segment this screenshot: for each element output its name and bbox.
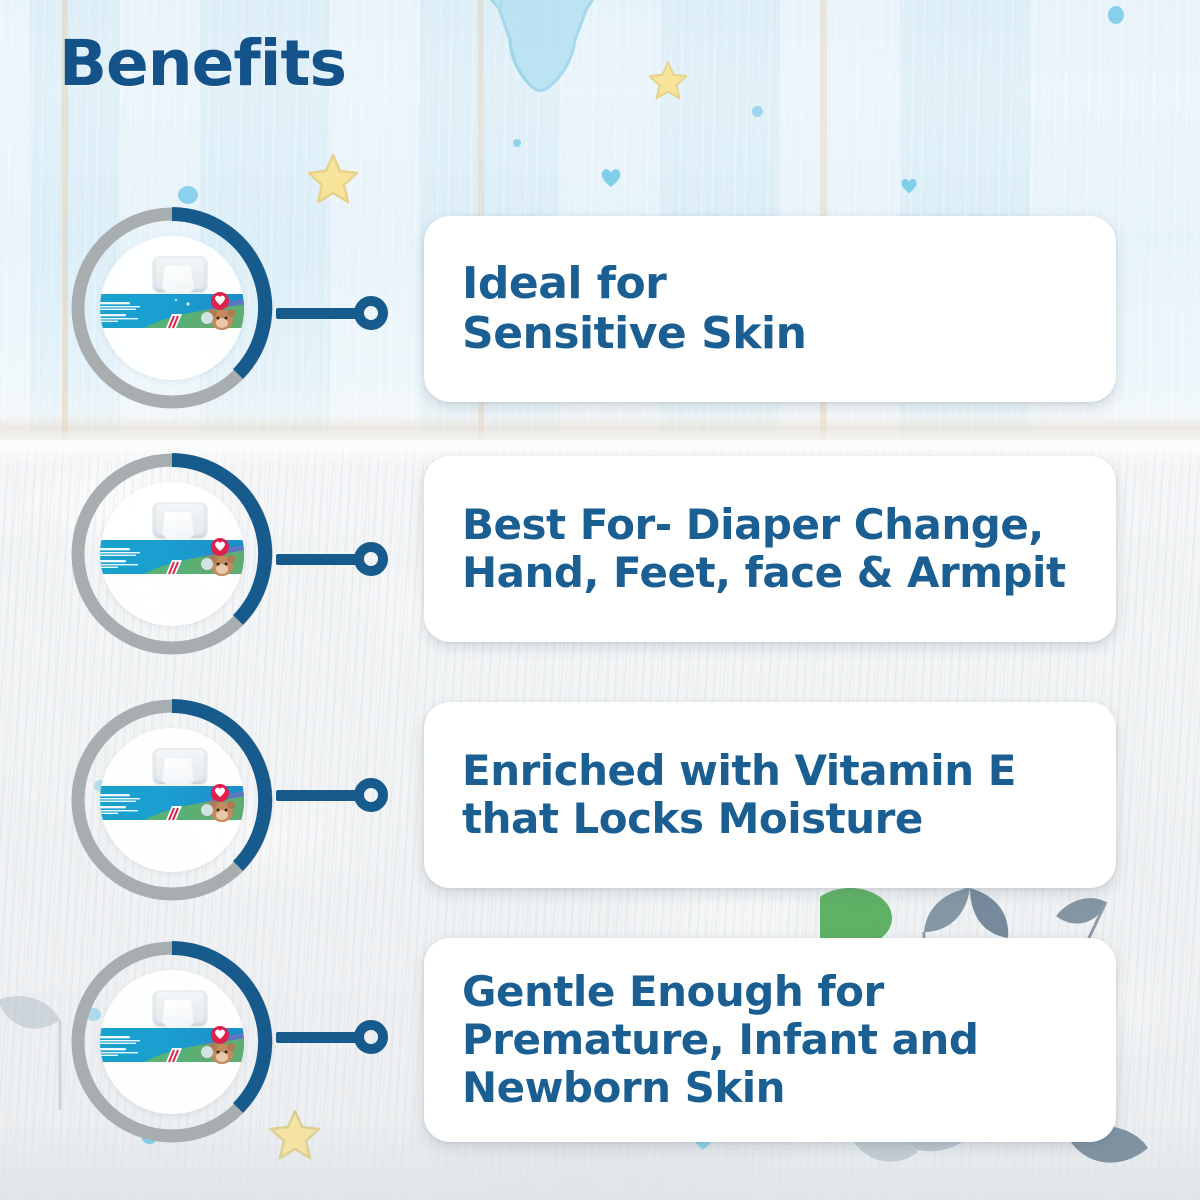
- wipes-pack-icon: [100, 1024, 244, 1066]
- heart-icon: [600, 168, 622, 188]
- benefit-node-3: [68, 696, 276, 904]
- benefits-infographic: Ideal for Sensitive Skin: [0, 0, 1200, 1200]
- heart-icon: [900, 178, 918, 194]
- benefit-text-1: Ideal for Sensitive Skin: [424, 259, 844, 359]
- benefit-text-4: Gentle Enough for Premature, Infant and …: [424, 968, 1016, 1112]
- product-thumbnail: [100, 970, 244, 1114]
- connector-2: [276, 542, 394, 576]
- product-thumbnail: [100, 482, 244, 626]
- star-icon: [268, 1108, 322, 1160]
- benefit-card-2[interactable]: Best For- Diaper Change, Hand, Feet, fac…: [424, 456, 1116, 642]
- page-title: Benefits: [59, 32, 346, 95]
- wipes-pack-icon: [100, 536, 244, 578]
- dot-decor: [752, 106, 763, 117]
- dot-decor: [178, 186, 198, 204]
- benefit-card-4[interactable]: Gentle Enough for Premature, Infant and …: [424, 938, 1116, 1142]
- star-icon: [307, 152, 359, 204]
- dot-decor: [1108, 6, 1124, 24]
- benefit-card-3[interactable]: Enriched with Vitamin E that Locks Moist…: [424, 702, 1116, 888]
- benefit-card-1[interactable]: Ideal for Sensitive Skin: [424, 216, 1116, 402]
- wipes-pack-icon: [100, 290, 244, 332]
- connector-3: [276, 778, 394, 812]
- product-thumbnail: [100, 728, 244, 872]
- wipes-pack-icon: [100, 782, 244, 824]
- dot-decor: [513, 139, 521, 147]
- connector-4: [276, 1020, 394, 1054]
- benefit-text-2: Best For- Diaper Change, Hand, Feet, fac…: [424, 501, 1104, 597]
- product-thumbnail: [100, 236, 244, 380]
- benefit-node-1: [68, 204, 276, 412]
- benefit-node-2: [68, 450, 276, 658]
- connector-1: [276, 296, 394, 330]
- star-icon: [648, 60, 688, 100]
- benefit-text-3: Enriched with Vitamin E that Locks Moist…: [424, 747, 1054, 843]
- benefit-node-4: [68, 938, 276, 1146]
- baby-onesie-icon: [455, 0, 625, 120]
